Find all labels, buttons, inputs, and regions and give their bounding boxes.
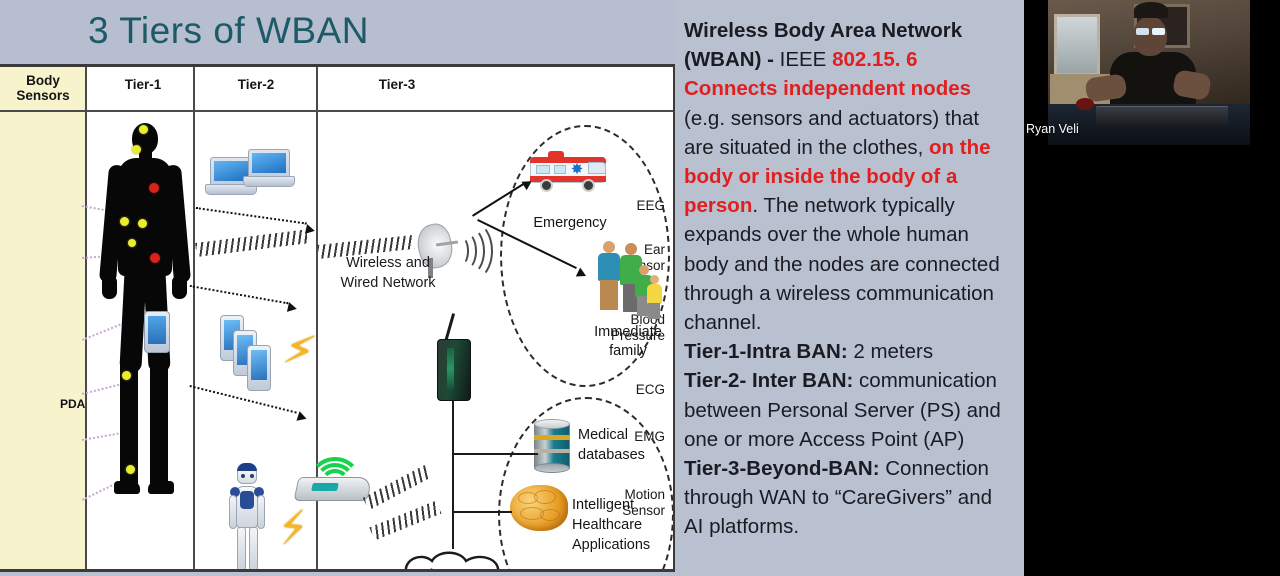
wifi-router-icon — [296, 465, 370, 503]
column-header-tier-3: Tier-3 — [322, 77, 472, 92]
laptop-screen — [252, 153, 286, 173]
sensor-node-ecg — [150, 253, 160, 263]
immediate-family-label: Immediate family — [578, 323, 675, 361]
robot-eye-right — [250, 474, 254, 478]
screen-root: 3 Tiers of WBAN Body Sensors Tier-1 Tier… — [0, 0, 1280, 576]
column-header-body-line1: Body — [6, 73, 80, 88]
brain-icon — [510, 485, 568, 533]
column-header-tier-1: Tier-1 — [95, 77, 191, 92]
wwn-line-1: Wireless and — [328, 253, 448, 273]
participant-name-overlay: Ryan Veli — [1026, 120, 1166, 138]
arrow-head-phones — [287, 302, 298, 314]
video-person-glasses-left — [1136, 28, 1149, 35]
db-label-line-2: databases — [578, 445, 670, 465]
ambulance-window-2 — [554, 165, 566, 174]
arrow-body-to-laptop — [196, 207, 307, 225]
ihc-label-line-3: Applications — [572, 535, 672, 555]
laptop-base — [243, 176, 295, 187]
lightning-bolt-icon: ⚡ — [275, 505, 312, 553]
ambulance-wheel-rear — [582, 179, 595, 192]
star-of-life-icon: ✸ — [570, 163, 584, 177]
wireless-link-router-server — [363, 465, 431, 510]
laptop-lid — [248, 149, 290, 177]
intelligent-healthcare-label: Intelligent Healthcare Applications — [572, 495, 672, 555]
medical-databases-label: Medical databases — [578, 425, 670, 465]
column-header-body-line2: Sensors — [6, 88, 80, 103]
pda-label: PDA — [60, 397, 85, 411]
body-foot-right — [148, 481, 174, 494]
sensor-node-knee — [122, 371, 131, 380]
wban-tier-diagram: Body Sensors Tier-1 Tier-2 Tier-3 EEG Ea… — [0, 64, 675, 572]
server-indicator-glow — [447, 348, 454, 390]
wban-definition-paragraph: Wireless Body Area Network (WBAN) - IEEE… — [684, 16, 1012, 337]
robot-arm-right — [257, 495, 265, 529]
connector-vertical — [452, 453, 454, 549]
sensor-node-abdomen — [128, 239, 136, 247]
participant-name: Ryan Veli — [1026, 122, 1079, 136]
laptop-icon — [243, 149, 295, 189]
page-title: 3 Tiers of WBAN — [88, 10, 369, 52]
brain-fold — [540, 509, 560, 521]
sensor-node-arm-left — [120, 217, 129, 226]
ambulance-icon: ✸ — [530, 149, 606, 193]
body-leg-right — [150, 358, 168, 488]
tier-3-heading: Tier-3-Beyond-BAN: — [684, 457, 880, 480]
tier-1-heading: Tier-1-Intra BAN: — [684, 340, 848, 363]
ambulance-window-1 — [536, 165, 550, 174]
ambulance-cab — [588, 162, 606, 174]
family-label-line-1: Immediate — [578, 323, 675, 342]
pda-icon — [144, 311, 170, 353]
cloud-icon: Internet — [388, 549, 528, 572]
database-band-1 — [534, 435, 570, 440]
robot-leg-left — [237, 527, 246, 572]
database-cylinder — [534, 424, 570, 468]
video-person-head — [1133, 16, 1167, 56]
body-hand-right — [172, 275, 187, 299]
robot-chest-panel — [240, 491, 254, 509]
internet-label: Internet — [388, 565, 528, 572]
db-label-line-1: Medical — [578, 425, 670, 445]
cat-ears-headband-icon — [1134, 2, 1168, 18]
database-base — [534, 463, 570, 473]
body-hand-left — [102, 275, 117, 299]
smartphone-icon — [247, 345, 271, 391]
family-label-line-2: family — [578, 342, 675, 361]
family-head — [639, 265, 649, 275]
family-body — [647, 284, 662, 304]
slide-text-panel: Wireless Body Area Network (WBAN) - IEEE… — [675, 0, 1024, 576]
robot-eye-left — [241, 474, 245, 478]
database-icon — [534, 419, 570, 473]
column-divider-1 — [85, 67, 87, 569]
arrow-body-to-robot — [190, 385, 297, 414]
satellite-wave-4 — [455, 222, 493, 280]
robot-head-cap — [237, 463, 257, 471]
ihc-label-line-2: Healthcare — [572, 515, 672, 535]
lightning-bolt-icon: ⚡ — [280, 326, 319, 375]
column-header-body-sensors: Body Sensors — [6, 73, 80, 103]
ihc-label-line-1: Intelligent — [572, 495, 672, 515]
column-header-tier-2: Tier-2 — [200, 77, 312, 92]
arrow-head-robot — [296, 411, 308, 423]
tier-1-paragraph: Tier-1-Intra BAN: 2 meters — [684, 337, 1012, 366]
family-icon — [596, 235, 660, 315]
family-head — [603, 241, 615, 253]
body-sensors-column — [0, 67, 85, 569]
family-head — [650, 275, 659, 284]
database-top — [534, 419, 570, 429]
robot-icon — [224, 465, 270, 572]
sensor-node-motion — [126, 465, 135, 474]
server-tower-icon — [437, 339, 471, 401]
tier-3-paragraph: Tier-3-Beyond-BAN: Connection through WA… — [684, 454, 1012, 542]
arrow-body-to-phones — [190, 285, 289, 304]
router-led-strip — [311, 483, 339, 491]
header-rule — [0, 110, 675, 112]
sensor-node-eeg — [139, 125, 148, 134]
sensor-node-bp — [149, 183, 159, 193]
robot-arm-left — [229, 495, 237, 529]
tier-2-paragraph: Tier-2- Inter BAN: communication between… — [684, 366, 1012, 454]
tier-1-body: 2 meters — [853, 340, 933, 363]
family-legs — [648, 303, 660, 319]
wireless-wired-network-label: Wireless and Wired Network — [328, 253, 448, 293]
family-legs — [600, 280, 618, 310]
connector-to-brain — [452, 511, 512, 513]
emergency-label: Emergency — [520, 215, 620, 231]
presentation-slide: 3 Tiers of WBAN Body Sensors Tier-1 Tier… — [0, 0, 1024, 576]
video-person-glasses-right — [1152, 28, 1165, 35]
wban-def-ieee: IEEE — [780, 48, 832, 71]
brain-fold — [534, 490, 556, 504]
family-body — [598, 253, 620, 281]
server-stem-line — [452, 401, 454, 453]
sensor-node-chest — [138, 219, 147, 228]
arrow-head-laptop — [305, 224, 316, 236]
slide-title-band: 3 Tiers of WBAN — [0, 0, 675, 64]
sensor-node-ear — [132, 145, 141, 154]
video-window — [1054, 14, 1100, 76]
robot-leg-right — [249, 527, 258, 572]
human-body-silhouette — [92, 113, 196, 572]
video-mouse — [1076, 98, 1094, 110]
wireless-link-tier1-tier3 — [195, 229, 308, 257]
database-band-2 — [534, 449, 570, 453]
wwn-line-2: Wired Network — [328, 273, 448, 293]
ambulance-wheel-front — [540, 179, 553, 192]
connector-to-database — [452, 453, 538, 455]
body-foot-left — [114, 481, 140, 494]
family-head — [625, 243, 637, 255]
tier-2-heading: Tier-2- Inter BAN: — [684, 369, 853, 392]
wireless-link-internet — [369, 501, 441, 541]
